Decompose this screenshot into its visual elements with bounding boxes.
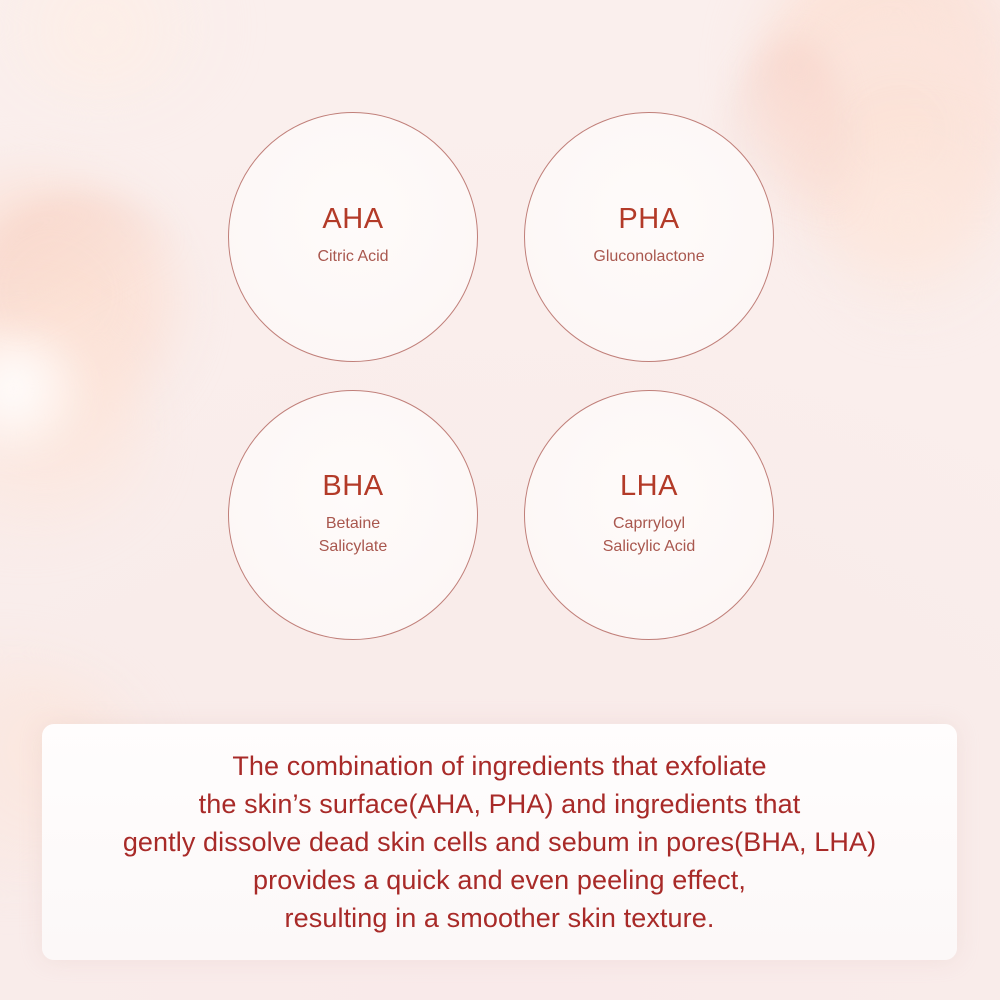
- description-line: resulting in a smoother skin texture.: [285, 899, 715, 937]
- ingredient-title-lha: LHA: [620, 472, 678, 501]
- description-panel: The combination of ingredients that exfo…: [42, 724, 957, 960]
- ingredient-subtitle-pha: Gluconolactone: [593, 246, 704, 269]
- decor-blob-top-right-2: [760, 10, 1000, 280]
- ingredient-title-bha: BHA: [322, 472, 383, 501]
- decor-blob-left-1: [0, 170, 180, 440]
- decor-blob-top-left: [0, 0, 230, 110]
- description-line: the skin’s surface(AHA, PHA) and ingredi…: [199, 785, 801, 823]
- ingredient-title-aha: AHA: [322, 205, 383, 234]
- ingredient-subtitle-aha: Citric Acid: [317, 246, 388, 269]
- decor-blob-left-2: [0, 300, 150, 540]
- ingredient-subtitle-lha: Caprryloyl Salicylic Acid: [603, 513, 695, 558]
- description-line: The combination of ingredients that exfo…: [232, 747, 766, 785]
- infographic-canvas: AHA Citric Acid PHA Gluconolactone BHA B…: [0, 0, 1000, 1000]
- description-line: gently dissolve dead skin cells and sebu…: [123, 823, 876, 861]
- ingredient-circle-pha: PHA Gluconolactone: [524, 112, 774, 362]
- decor-blob-left-edge: [0, 195, 180, 345]
- ingredient-subtitle-bha: Betaine Salicylate: [319, 513, 387, 558]
- ingredient-circle-bha: BHA Betaine Salicylate: [228, 390, 478, 640]
- ingredient-title-pha: PHA: [618, 205, 679, 234]
- decor-blob-left-3: [0, 330, 90, 460]
- ingredient-circle-aha: AHA Citric Acid: [228, 112, 478, 362]
- description-line: provides a quick and even peeling effect…: [253, 861, 746, 899]
- decor-blob-top-right-3: [820, 120, 1000, 320]
- ingredient-circle-lha: LHA Caprryloyl Salicylic Acid: [524, 390, 774, 640]
- decor-blob-top-right-1: [760, 0, 1000, 230]
